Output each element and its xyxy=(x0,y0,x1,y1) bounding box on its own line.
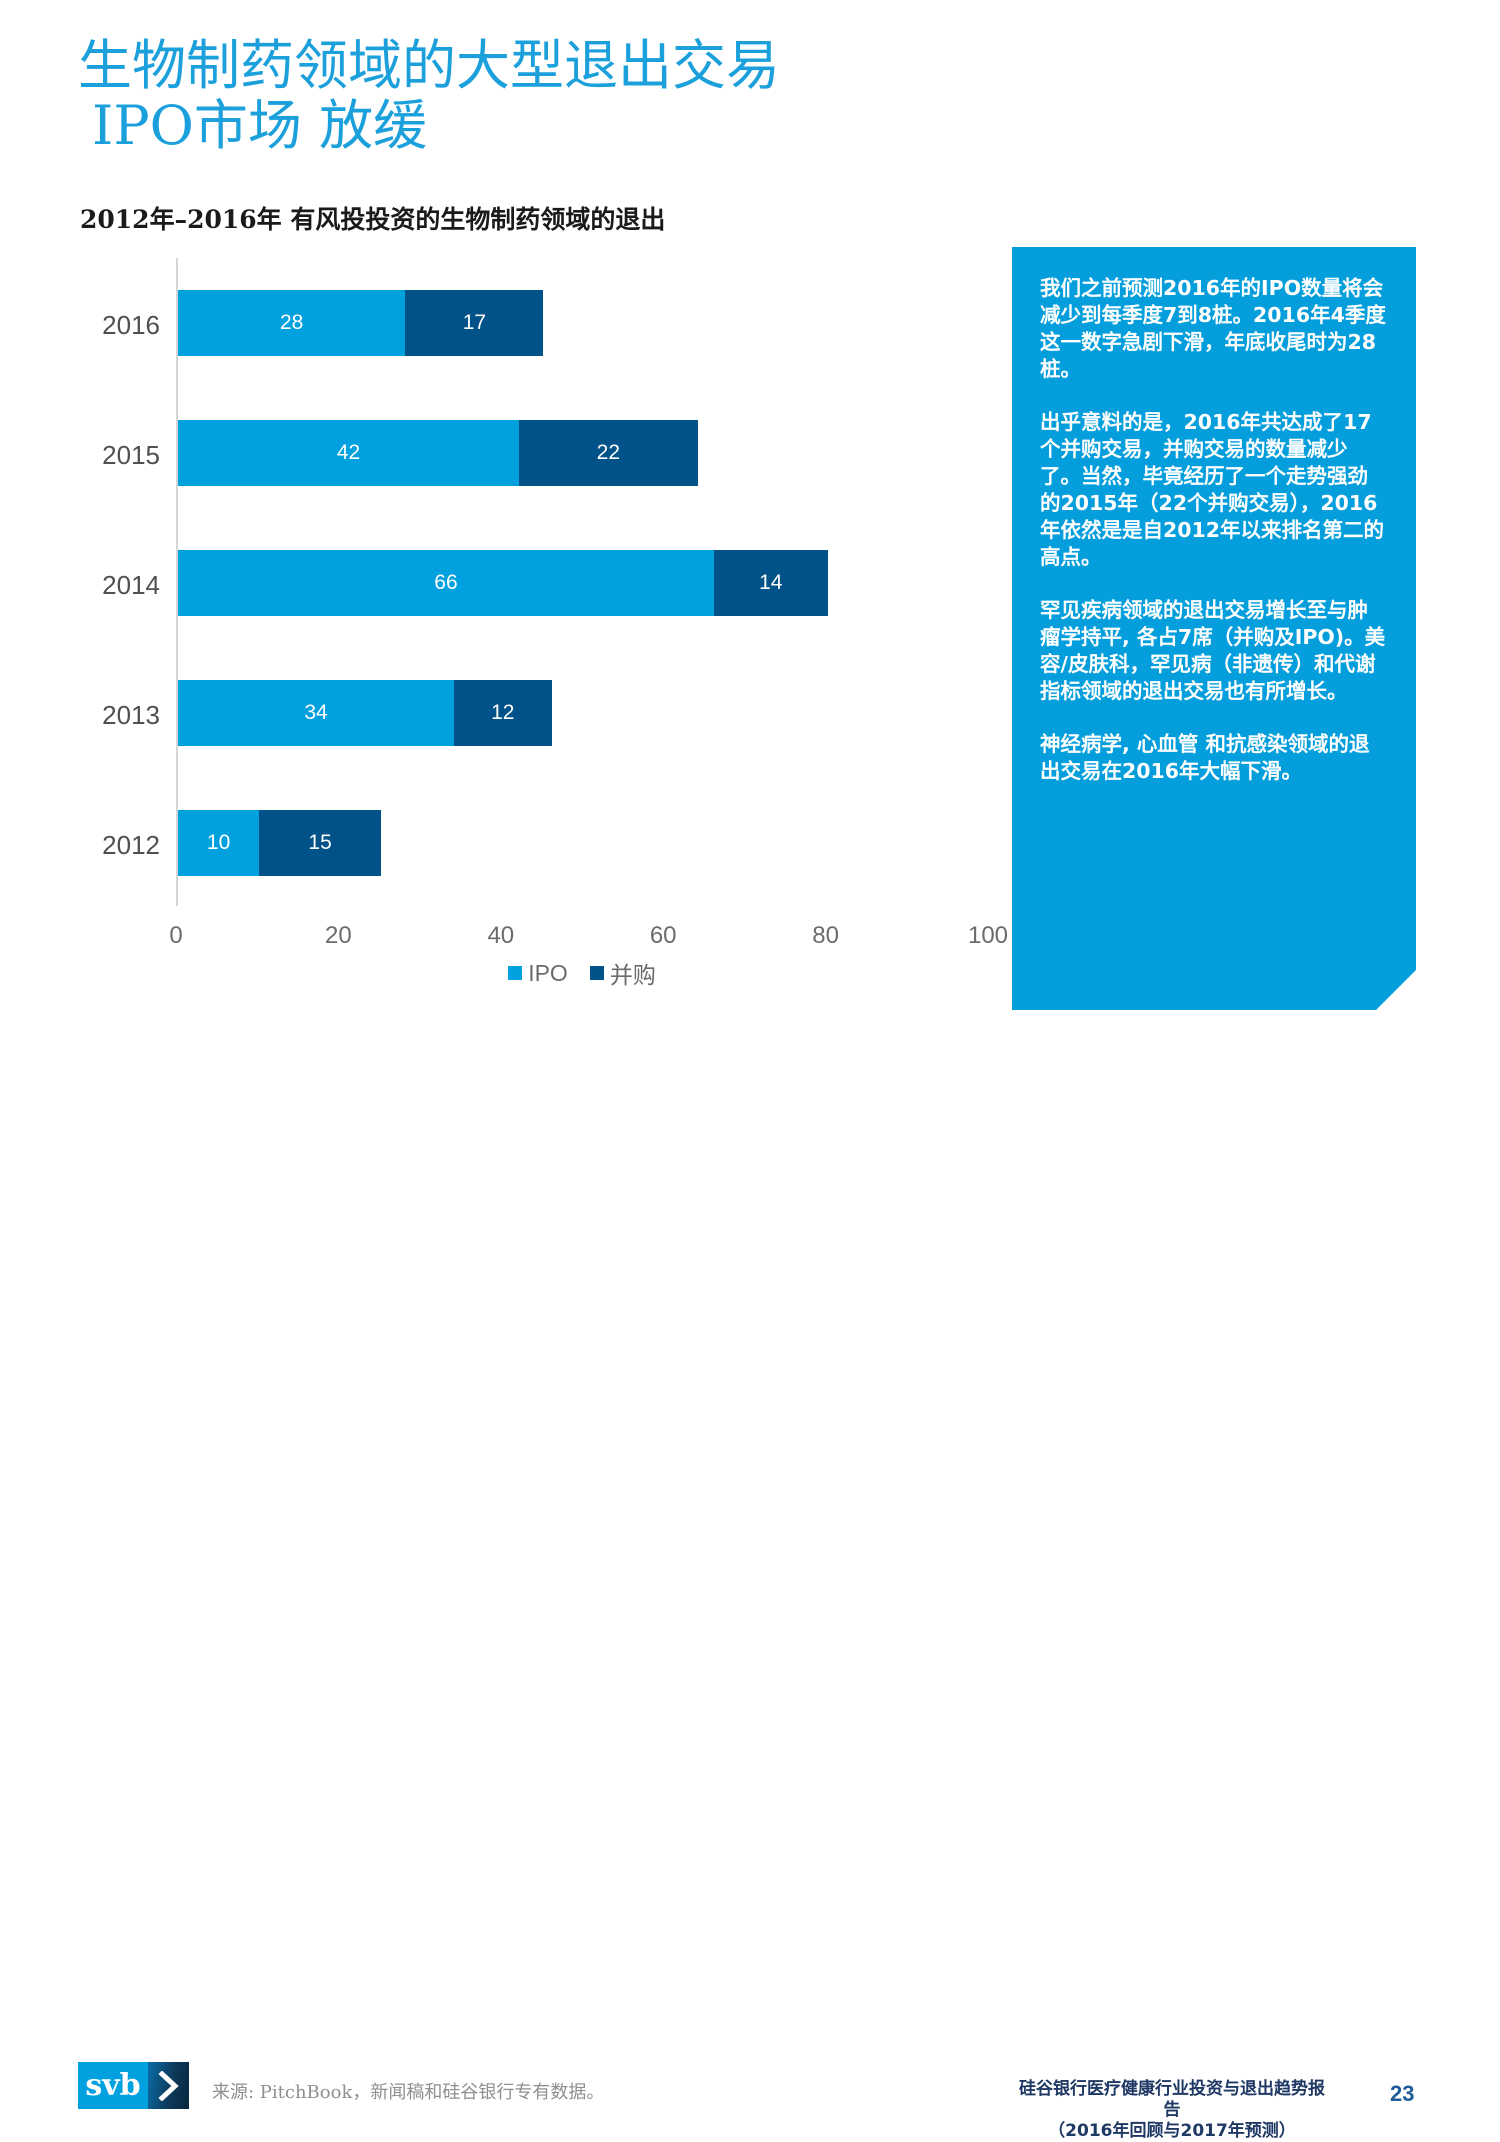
legend-item-ipo: IPO xyxy=(508,960,568,987)
legend-label-ma: 并购 xyxy=(610,956,656,990)
legend-label-ipo: IPO xyxy=(528,960,568,987)
bar-segment-ipo: 34 xyxy=(178,680,454,746)
x-axis-ticks: 020406080100 xyxy=(176,922,988,952)
bar-row: 4222 xyxy=(178,420,698,486)
x-tick-label: 60 xyxy=(650,922,677,950)
title-line-2: IPO市场 放缓 xyxy=(78,96,998,156)
chart-legend: IPO 并购 xyxy=(176,956,988,990)
x-tick-label: 40 xyxy=(487,922,514,950)
bar-row: 3412 xyxy=(178,680,552,746)
bar-row: 6614 xyxy=(178,550,828,616)
x-tick-label: 0 xyxy=(169,922,182,950)
bar-segment-ma: 14 xyxy=(714,550,828,616)
x-tick-label: 80 xyxy=(812,922,839,950)
report-title: 硅谷银行医疗健康行业投资与退出趋势报告 （2016年回顾与2017年预测） xyxy=(1012,2079,1332,2142)
commentary-panel: 我们之前预测2016年的IPO数量将会减少到每季度7到8桩。2016年4季度这一… xyxy=(1012,247,1416,1010)
x-tick-label: 20 xyxy=(325,922,352,950)
chart-plot-area: 2016281720154222201466142013341220121015 xyxy=(176,258,988,918)
page-title: 生物制药领域的大型退出交易 IPO市场 放缓 xyxy=(78,36,998,156)
report-title-line-1: 硅谷银行医疗健康行业投资与退出趋势报告 xyxy=(1012,2079,1332,2121)
bar-segment-ma: 12 xyxy=(454,680,551,746)
y-axis-label-2014: 2014 xyxy=(72,570,160,601)
commentary-paragraph: 罕见疾病领域的退出交易增长至与肿瘤学持平, 各占7席（并购及IPO)。美容/皮肤… xyxy=(1040,597,1388,705)
bar-segment-ma: 22 xyxy=(519,420,698,486)
source-note: 来源: PitchBook，新闻稿和硅谷银行专有数据。 xyxy=(212,2078,604,2104)
report-title-line-2: （2016年回顾与2017年预测） xyxy=(1012,2121,1332,2142)
y-axis-label-2015: 2015 xyxy=(72,440,160,471)
y-axis-label-2016: 2016 xyxy=(72,310,160,341)
legend-swatch-ma xyxy=(590,966,604,980)
title-line-1: 生物制药领域的大型退出交易 xyxy=(78,36,998,96)
bar-segment-ipo: 66 xyxy=(178,550,714,616)
svb-logo: svb xyxy=(78,2062,189,2109)
commentary-paragraph: 出乎意料的是，2016年共达成了17个并购交易，并购交易的数量减少了。当然，毕竟… xyxy=(1040,409,1388,571)
commentary-paragraph: 神经病学, 心血管 和抗感染领域的退出交易在2016年大幅下滑。 xyxy=(1040,731,1388,785)
chart-subtitle: 2012年–2016年 有风投投资的生物制药领域的退出 xyxy=(80,200,665,236)
y-axis-label-2013: 2013 xyxy=(72,700,160,731)
bar-segment-ipo: 42 xyxy=(178,420,519,486)
chevron-right-icon xyxy=(148,2062,189,2109)
legend-item-ma: 并购 xyxy=(590,956,656,990)
bar-segment-ma: 17 xyxy=(405,290,543,356)
slide: 生物制药领域的大型退出交易 IPO市场 放缓 2012年–2016年 有风投投资… xyxy=(0,0,1500,1125)
exit-activity-bar-chart: 2016281720154222201466142013341220121015… xyxy=(78,250,988,950)
bar-row: 1015 xyxy=(178,810,381,876)
y-axis-label-2012: 2012 xyxy=(72,830,160,861)
bar-segment-ipo: 10 xyxy=(178,810,259,876)
commentary-paragraph: 我们之前预测2016年的IPO数量将会减少到每季度7到8桩。2016年4季度这一… xyxy=(1040,275,1388,383)
svb-logo-text: svb xyxy=(78,2062,148,2109)
footer: svb 来源: PitchBook，新闻稿和硅谷银行专有数据。 硅谷银行医疗健康… xyxy=(0,1015,1500,1125)
x-tick-label: 100 xyxy=(968,922,1008,950)
legend-swatch-ipo xyxy=(508,966,522,980)
bar-segment-ipo: 28 xyxy=(178,290,405,356)
bar-segment-ma: 15 xyxy=(259,810,381,876)
page-number: 23 xyxy=(1390,2081,1414,2107)
bar-row: 2817 xyxy=(178,290,543,356)
